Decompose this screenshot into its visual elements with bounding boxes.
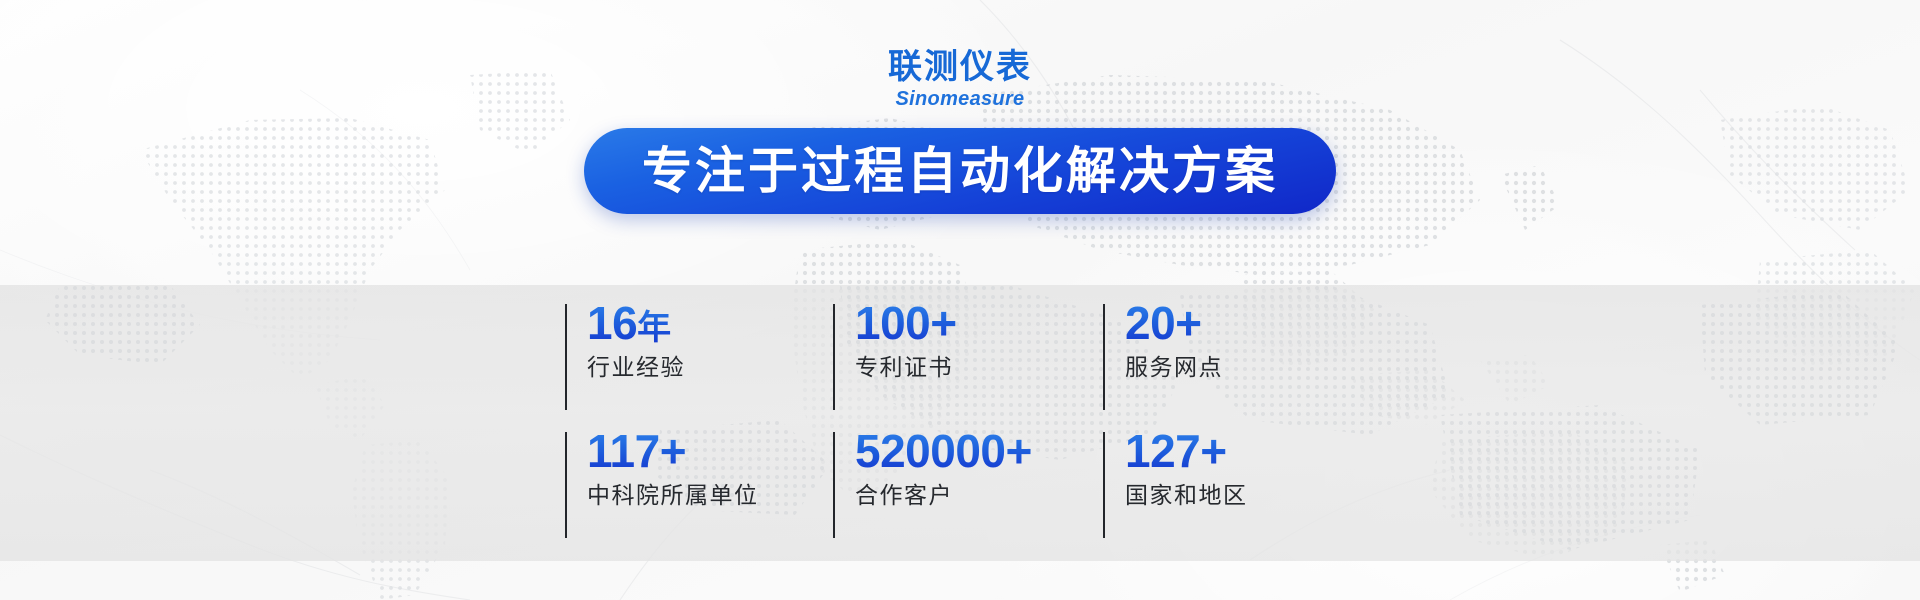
stat-label: 服务网点 — [1125, 356, 1355, 381]
stat-label: 国家和地区 — [1125, 484, 1355, 509]
stat-value: 117+ — [587, 428, 833, 475]
stat-label: 专利证书 — [855, 356, 1103, 381]
stat-number: 520000+ — [855, 425, 1032, 477]
stat-item-service-outlets: 20+ 服务网点 — [1103, 300, 1355, 428]
headline-pill: 专注于过程自动化解决方案 — [584, 128, 1336, 214]
brand-name-cn: 联测仪表 — [0, 50, 1920, 84]
stat-label: 中科院所属单位 — [587, 484, 833, 509]
stat-value: 20+ — [1125, 300, 1355, 347]
stat-number: 20+ — [1125, 297, 1202, 349]
stat-item-countries-and-regions: 127+ 国家和地区 — [1103, 428, 1355, 556]
stat-value: 100+ — [855, 300, 1103, 347]
stat-item-cooperative-customers: 520000+ 合作客户 — [833, 428, 1103, 556]
stat-number: 100+ — [855, 297, 957, 349]
stat-value: 16年 — [587, 300, 833, 347]
headline-banner: 专注于过程自动化解决方案 — [0, 128, 1920, 214]
stats-grid: 16年 行业经验 100+ 专利证书 20+ 服务网点 117+ 中科院所属单位… — [565, 300, 1355, 556]
stat-unit: 年 — [637, 308, 671, 348]
stat-number: 127+ — [1125, 425, 1227, 477]
stat-number: 117+ — [587, 425, 686, 477]
headline-text: 专注于过程自动化解决方案 — [642, 146, 1278, 196]
stat-item-patent-certificates: 100+ 专利证书 — [833, 300, 1103, 428]
stat-item-industry-experience: 16年 行业经验 — [565, 300, 833, 428]
stat-value: 520000+ — [855, 428, 1103, 475]
stat-number: 16 — [587, 297, 637, 349]
stat-value: 127+ — [1125, 428, 1355, 475]
stat-item-cas-affiliated-units: 117+ 中科院所属单位 — [565, 428, 833, 556]
brand-name-en: Sinomeasure — [0, 89, 1920, 109]
stat-label: 合作客户 — [855, 484, 1103, 509]
banner-stage: 联测仪表 Sinomeasure 专注于过程自动化解决方案 16年 行业经验 1… — [0, 0, 1920, 600]
stat-label: 行业经验 — [587, 356, 833, 381]
brand-logo: 联测仪表 Sinomeasure — [0, 50, 1920, 109]
